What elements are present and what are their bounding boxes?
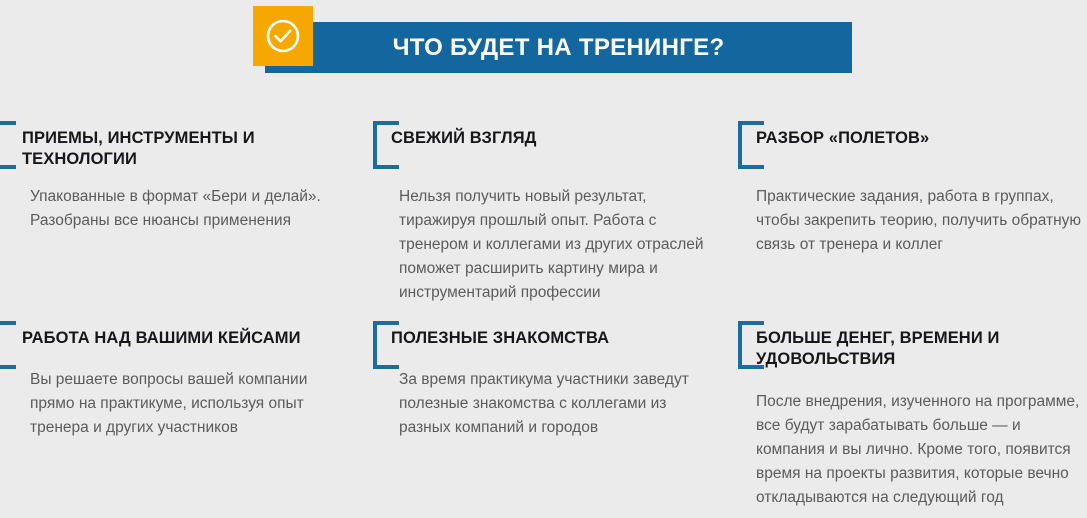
benefit-card-heading: ПРИЕМЫ, ИНСТРУМЕНТЫ И ТЕХНОЛОГИИ: [22, 128, 342, 170]
benefit-card-body: Вы решаете вопросы вашей компании прямо …: [30, 368, 340, 440]
benefits-grid: ПРИЕМЫ, ИНСТРУМЕНТЫ И ТЕХНОЛОГИИ Упакова…: [0, 106, 1087, 518]
page-header: ЧТО БУДЕТ НА ТРЕНИНГЕ?: [0, 0, 1087, 100]
benefit-card-heading: РАБОТА НАД ВАШИМИ КЕЙСАМИ: [22, 328, 342, 349]
benefit-card-body: Упакованные в формат «Бери и делай». Раз…: [30, 185, 340, 233]
benefit-card-body: Практические задания, работа в группах, …: [756, 185, 1086, 257]
corner-bracket-icon: [0, 321, 16, 369]
benefit-card-body: За время практикума участники заведут по…: [399, 368, 717, 440]
benefit-card-body: Нельзя получить новый результат, тиражир…: [399, 185, 717, 305]
header-icon-badge: [253, 6, 313, 66]
benefit-card-heading: СВЕЖИЙ ВЗГЛЯД: [391, 128, 701, 149]
check-circle-icon: [265, 18, 301, 54]
benefits-row-2: РАБОТА НАД ВАШИМИ КЕЙСАМИ Вы решаете воп…: [0, 306, 1087, 518]
benefit-card-heading: РАЗБОР «ПОЛЕТОВ»: [756, 128, 1086, 149]
page-title: ЧТО БУДЕТ НА ТРЕНИНГЕ?: [265, 22, 852, 73]
corner-bracket-icon: [0, 121, 16, 169]
benefit-card-body: После внедрения, изученного на программе…: [756, 390, 1086, 510]
benefit-card-heading: ПОЛЕЗНЫЕ ЗНАКОМСТВА: [391, 328, 701, 349]
benefit-card-heading: БОЛЬШЕ ДЕНЕГ, ВРЕМЕНИ И УДОВОЛЬСТВИЯ: [756, 328, 1086, 370]
benefits-row-1: ПРИЕМЫ, ИНСТРУМЕНТЫ И ТЕХНОЛОГИИ Упакова…: [0, 106, 1087, 306]
